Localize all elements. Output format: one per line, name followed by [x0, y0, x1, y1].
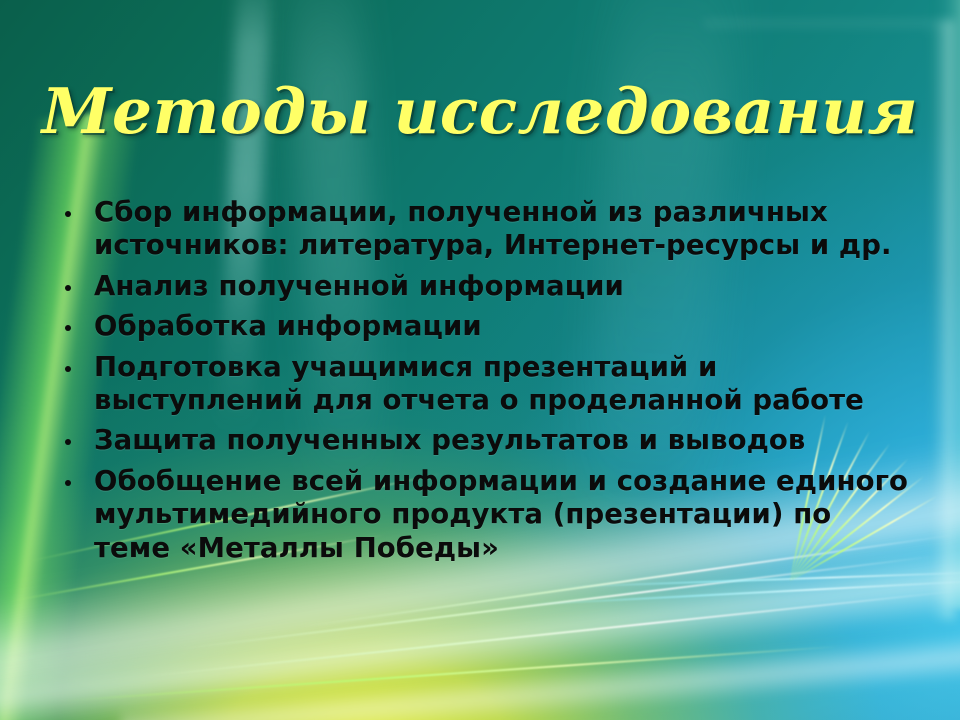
bullet-item: Подготовка учащимися презентаций и высту… [58, 351, 910, 418]
bullet-list: Сбор информации, полученной из различных… [58, 196, 910, 572]
bullet-item: Обработка информации [58, 310, 910, 343]
slide-title: Методы исследования [0, 78, 960, 144]
bullet-item: Анализ полученной информации [58, 270, 910, 303]
presentation-slide: Методы исследования Сбор информации, пол… [0, 0, 960, 720]
bullet-item: Сбор информации, полученной из различных… [58, 196, 910, 263]
bullet-item: Обобщение всей информации и создание еди… [58, 465, 910, 565]
slide-content: Методы исследования Сбор информации, пол… [0, 0, 960, 720]
bullet-item: Защита полученных результатов и выводов [58, 424, 910, 457]
